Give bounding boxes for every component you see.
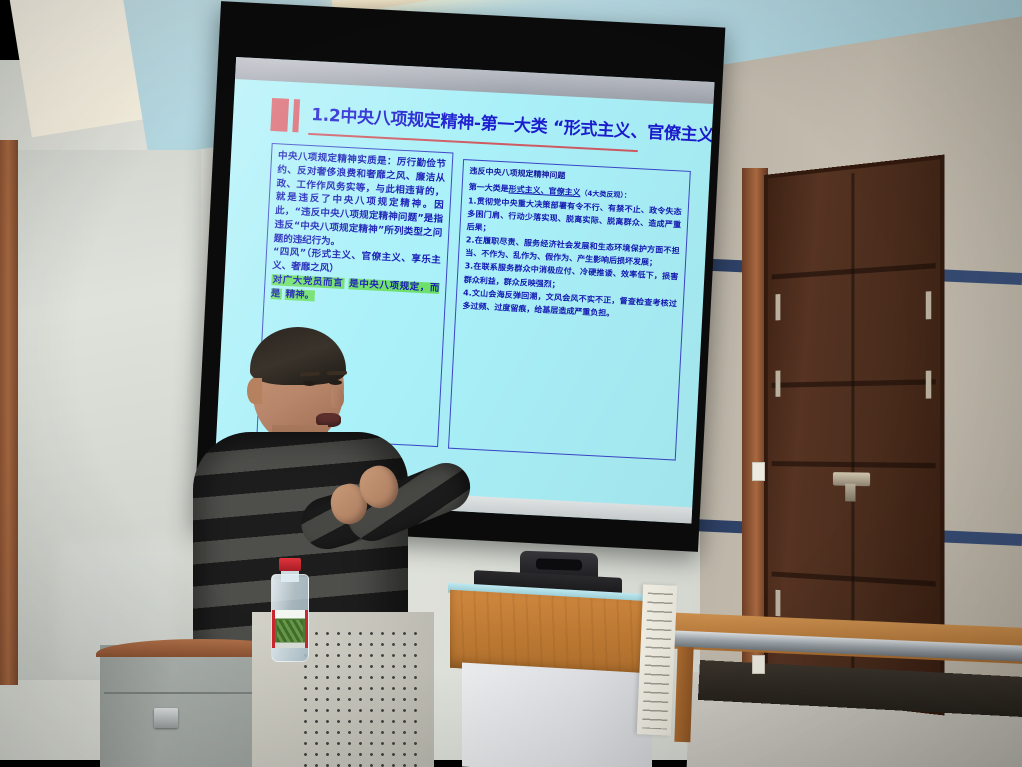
presenter-eye-left bbox=[303, 381, 316, 386]
photo-scene: 1.2中央八项规定精神-第一大类 “形式主义、官僚主义” 中央八项规定精神实质是… bbox=[0, 0, 1022, 767]
right-text-box: 违反中央八项规定精神问题 第一大类是形式主义、官僚主义（4大类反观）： 1.贯彻… bbox=[448, 159, 691, 461]
table-leg bbox=[674, 646, 693, 742]
light-switch-upper[interactable] bbox=[752, 462, 765, 481]
door-hinge-5 bbox=[926, 371, 931, 399]
door-hinge-2 bbox=[776, 371, 781, 397]
glossy-wall-panel bbox=[16, 150, 201, 680]
light-switch-lower[interactable] bbox=[752, 655, 765, 674]
wooden-podium bbox=[450, 596, 666, 767]
title-accent-bar-wide bbox=[270, 98, 289, 132]
presenter-ear bbox=[247, 378, 262, 404]
door-hinge-1 bbox=[776, 294, 781, 320]
bottle-label bbox=[272, 610, 308, 648]
door-handle-icon[interactable] bbox=[832, 472, 869, 486]
slide-title: 1.2中央八项规定精神-第一大类 “形式主义、官僚主义” bbox=[311, 100, 695, 145]
title-accent-bar-thin bbox=[292, 99, 300, 132]
panel-wood-frame bbox=[0, 140, 18, 685]
cabinet-handle-icon[interactable] bbox=[154, 708, 178, 728]
left-box-paragraph: 中央八项规定精神实质是：厉行勤俭节约、反对奢侈浪费和奢靡之风、廉洁从政、工作作风… bbox=[273, 149, 446, 254]
presenter-brow-right bbox=[327, 371, 347, 376]
podium-base bbox=[462, 663, 652, 767]
presenter-nose bbox=[331, 388, 344, 408]
water-bottle[interactable] bbox=[269, 558, 311, 662]
speaker-grille bbox=[300, 628, 418, 767]
presenter-eye-right bbox=[329, 380, 342, 385]
lead-underline: 形式主义、官僚主义 bbox=[508, 184, 580, 197]
notice-text-lines bbox=[642, 593, 673, 730]
door-hinge-3 bbox=[776, 590, 781, 617]
door-center-seam bbox=[851, 173, 854, 697]
bottle-cap[interactable] bbox=[279, 558, 301, 571]
vertical-notice-sheet bbox=[637, 584, 678, 735]
highlight-1: 对广大党员而言 bbox=[271, 274, 344, 289]
lead-prefix: 第一大类是 bbox=[468, 182, 508, 193]
door-hinge-4 bbox=[926, 291, 931, 319]
highlight-3: 精神。 bbox=[284, 289, 315, 302]
lead-suffix: （4大类反观）： bbox=[580, 189, 631, 200]
